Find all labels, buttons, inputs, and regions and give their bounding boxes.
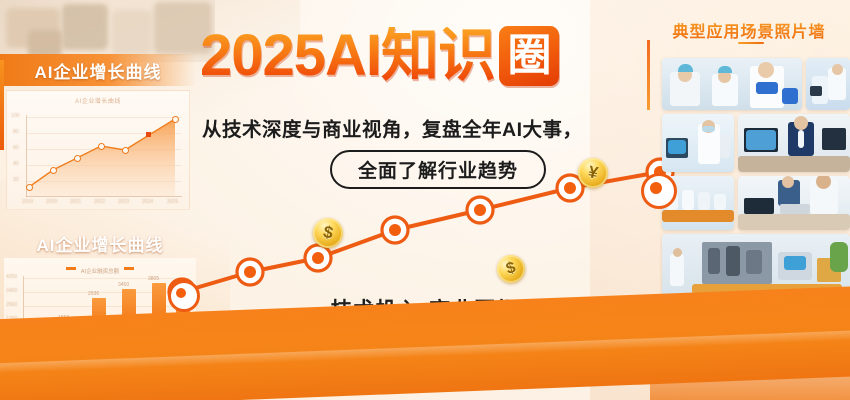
- left-top-card-banner-label: AI企业增长曲线: [35, 58, 162, 83]
- photo-lab-engineer[interactable]: [806, 58, 850, 110]
- photo-medical-team[interactable]: [662, 58, 802, 110]
- left-accent-bar: [0, 60, 4, 150]
- poster-canvas: AI企业增长曲线 AI企业增长曲线 100 80 60 40 20: [0, 0, 850, 400]
- edge-node-dot: [650, 182, 662, 194]
- coin-dollar-mid-symbol: $: [321, 222, 334, 244]
- left-top-card-banner: AI企业增长曲线: [0, 54, 196, 86]
- photo-office-analyst[interactable]: [738, 114, 850, 172]
- top-left-photo-backdrop: [0, 0, 215, 62]
- subtitle: 从技术深度与商业视角，复盘全年AI大事，: [202, 113, 672, 142]
- coin-dollar-center-symbol: $: [504, 259, 518, 279]
- left-edge-node-dot: [176, 288, 186, 298]
- photo-wall-title-rule: [738, 42, 764, 44]
- photo-medical-device[interactable]: [662, 114, 734, 172]
- photo-office-laptop[interactable]: [738, 176, 850, 230]
- page-title-year-ai: 2025AI: [200, 27, 381, 85]
- left-bottom-card-banner-label: AI企业增长曲线: [37, 231, 164, 256]
- left-bottom-legend-label: AI企业融资总额: [81, 269, 119, 275]
- page-title-cn: 知识: [381, 27, 495, 85]
- coin-yuan-right-symbol: ¥: [586, 162, 599, 184]
- photo-wall-title: 典型应用场景照片墙: [656, 18, 842, 42]
- page-title: 2025AI 知识 圈: [200, 26, 559, 86]
- page-title-boxed-char: 圈: [499, 26, 559, 86]
